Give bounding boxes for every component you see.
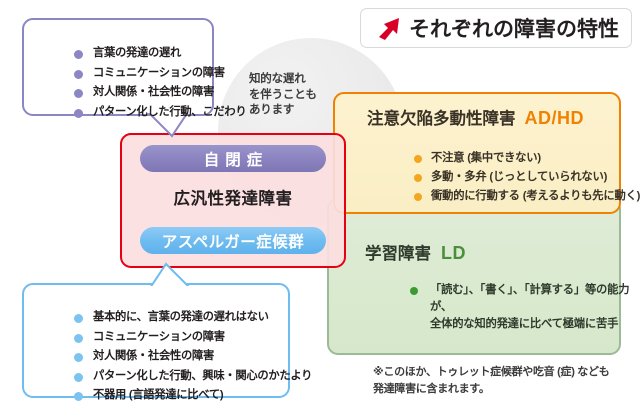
list-item: コミュニケーションの障害	[74, 64, 246, 84]
list-item: 衝動的に行動する (考えるよりも先に動く)	[414, 187, 640, 206]
list-item: 不器用 (言語発達に比べて)	[74, 386, 312, 406]
ld-title-text: 学習障害	[365, 245, 431, 263]
list-item: 言葉の発達の遅れ	[74, 44, 246, 64]
list-item: 「読む」、「書く」、「計算する」等の能力が、 全体的な知的発達に比べて極端に苦手	[410, 282, 640, 333]
adhd-title: 注意欠陥多動性障害AD/HD	[367, 105, 584, 129]
adhd-trait-list: 不注意 (集中できない) 多動・多弁 (じっとしていられない) 衝動的に行動する…	[374, 149, 640, 206]
intellectual-delay-label: 知的な遅れ を伴うことも あります	[249, 72, 359, 119]
list-item: 対人関係・社会性の障害	[74, 83, 246, 103]
asperger-pill: アスペルガー症候群	[140, 227, 326, 254]
asperger-callout-tail	[148, 262, 192, 288]
ld-trait-list: 「読む」、「書く」、「計算する」等の能力が、 全体的な知的発達に比べて極端に苦手	[370, 282, 640, 333]
list-item: パターン化した行動、こだわり	[74, 103, 246, 123]
list-item: 多動・多弁 (じっとしていられない)	[414, 168, 640, 187]
footnote-text: ※このほか、トゥレット症候群や吃音 (症) なども 発達障害に含まれます。	[373, 364, 623, 398]
autism-traits-list: 言葉の発達の遅れ コミュニケーションの障害 対人関係・社会性の障害 パターン化し…	[34, 44, 246, 122]
asperger-traits-list: 基本的に、言葉の発達の遅れはない コミュニケーションの障害 対人関係・社会性の障…	[34, 308, 312, 406]
list-item: 不注意 (集中できない)	[414, 149, 640, 168]
list-item: 基本的に、言葉の発達の遅れはない	[74, 308, 312, 328]
asperger-pill-label: アスペルガー症候群	[162, 230, 304, 252]
diagram-canvas: 知的な遅れ を伴うことも あります 自閉症 広汎性発達障害 アスペルガー症候群 …	[0, 0, 640, 413]
page-title: それぞれの障害の特性	[409, 13, 619, 43]
list-item: パターン化した行動、興味・関心のかたより	[74, 367, 312, 387]
list-item: 対人関係・社会性の障害	[74, 347, 312, 367]
adhd-code: AD/HD	[525, 108, 585, 128]
autism-pill-label: 自閉症	[198, 148, 269, 170]
red-arrow-icon	[375, 15, 401, 41]
pdd-main-label: 広汎性発達障害	[120, 185, 346, 209]
ld-code: LD	[441, 243, 466, 263]
adhd-title-text: 注意欠陥多動性障害	[367, 110, 516, 128]
ld-title: 学習障害LD	[365, 240, 466, 264]
autism-pill: 自閉症	[140, 145, 326, 172]
list-item: コミュニケーションの障害	[74, 328, 312, 348]
page-title-box: それぞれの障害の特性	[360, 8, 632, 48]
